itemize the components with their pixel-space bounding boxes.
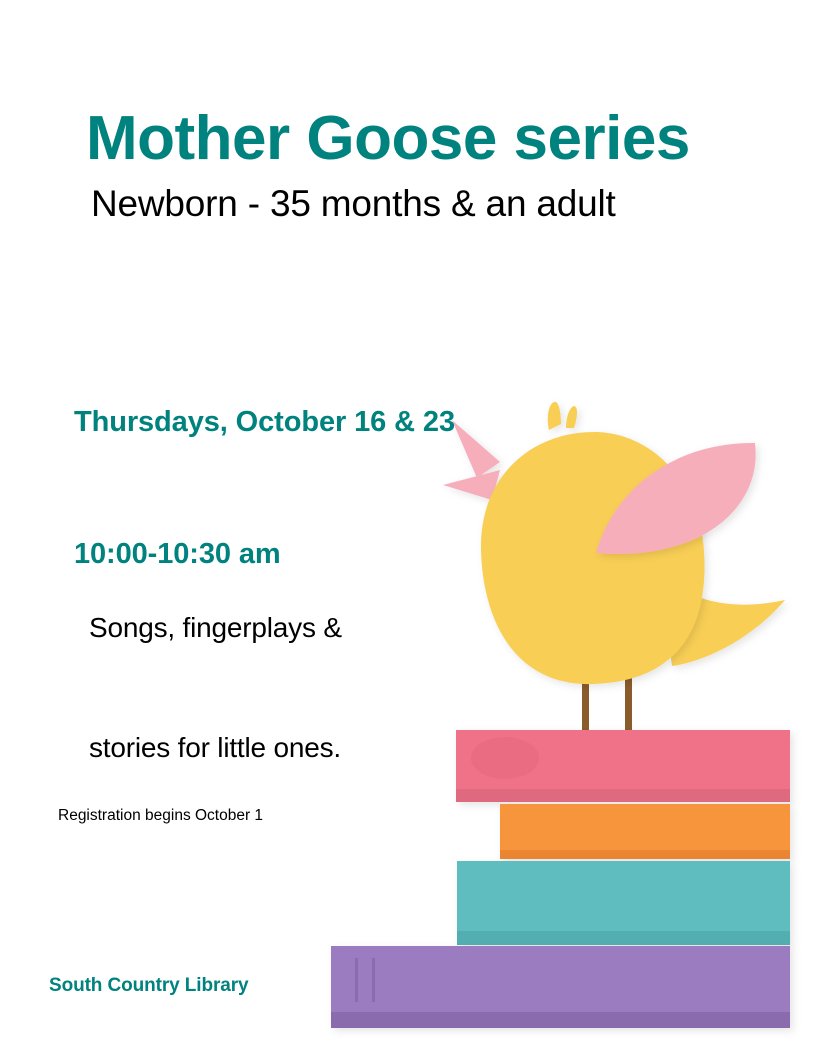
orange-book-page-edge (500, 850, 790, 859)
description-block: Songs, fingerplays & stories for little … (89, 528, 342, 848)
bird-left-leg (582, 676, 589, 734)
book-stack-icon (331, 730, 790, 1028)
orange-book (500, 804, 790, 859)
teal-book-page-edge (457, 931, 790, 945)
head-tuft-right (566, 406, 577, 428)
bird-legs (582, 676, 632, 734)
purple-book-page-edge (331, 1012, 790, 1028)
purple-book-spine-line-1 (355, 958, 358, 1002)
flyer-page: Mother Goose series Newborn - 35 months … (0, 0, 816, 1056)
purple-book-spine-line-2 (372, 958, 375, 1002)
purple-book (331, 946, 790, 1028)
schedule-days: Thursdays, October 16 & 23 (74, 400, 455, 444)
pink-book-cover-ornament (471, 737, 539, 779)
pink-book (456, 730, 790, 802)
audience-subtitle: Newborn - 35 months & an adult (91, 184, 616, 225)
library-name: South Country Library (49, 975, 249, 997)
pink-book-page-edge (456, 789, 790, 802)
bird-right-leg (625, 676, 632, 734)
description-line-1: Songs, fingerplays & (89, 608, 342, 648)
registration-note: Registration begins October 1 (58, 807, 263, 825)
beak-upper (452, 420, 500, 478)
description-line-2: stories for little ones. (89, 728, 342, 768)
teal-book (457, 861, 790, 945)
head-tuft-left (548, 402, 561, 430)
page-title: Mother Goose series (86, 106, 690, 171)
